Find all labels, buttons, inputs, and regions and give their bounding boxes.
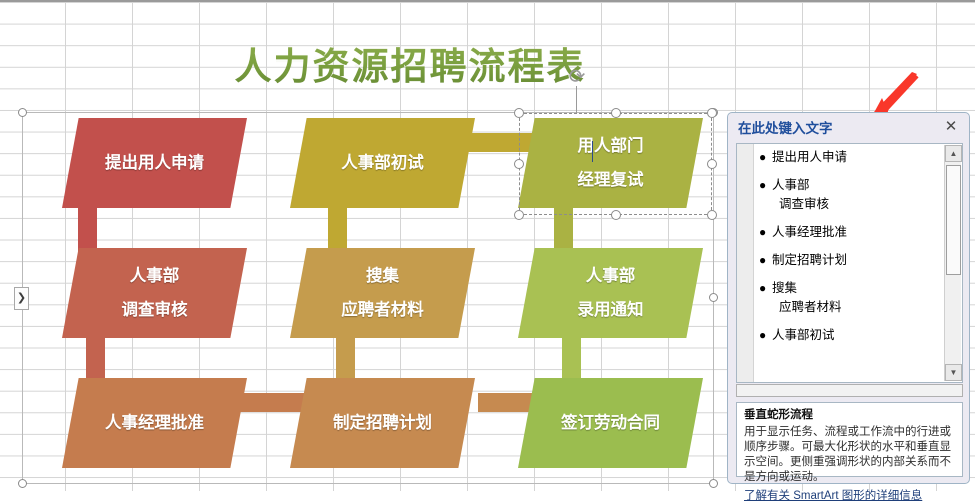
list-item[interactable]: ● 制定招聘计划 [759,253,940,268]
list-item-label: 制定招聘计划 [772,253,847,268]
text-pane-vertical-scrollbar[interactable]: ▲ ▼ [944,145,961,381]
text-pane-header: 在此处键入文字 [728,113,969,141]
node-resize-handle-middle-left[interactable] [514,159,524,169]
node-1-line-1: 提出用人申请 [105,154,204,172]
smartart-node-4[interactable]: 人事部初试 [290,118,475,208]
list-item-label: 人事经理批准 [772,225,847,240]
smartart-node-9[interactable]: 签订劳动合同 [518,378,703,468]
list-item-sub-label[interactable]: 应聘者材料 [779,300,940,315]
smartart-node-5[interactable]: 搜集 应聘者材料 [290,248,475,338]
grid-top-rule [0,0,975,2]
bullet-icon: ● [759,281,772,296]
scroll-up-icon[interactable]: ▲ [945,145,962,162]
smartart-text-pane[interactable]: 在此处键入文字 ✕ ● 提出用人申请 ● 人事部 调查审核 ● 人事经理批准 ●… [727,112,970,484]
scroll-down-icon[interactable]: ▼ [945,364,962,381]
resize-handle-bottom-right[interactable] [709,479,718,488]
text-edit-caret [592,141,593,162]
node-resize-handle-top-right[interactable] [707,108,717,118]
node-4-line-1: 人事部初试 [341,154,424,172]
bullet-icon: ● [759,150,772,165]
node-resize-handle-top-left[interactable] [514,108,524,118]
smartart-node-8[interactable]: 人事部 录用通知 [518,248,703,338]
list-item[interactable]: ● 人事部初试 [759,328,940,343]
bullet-icon: ● [759,178,772,193]
list-item-label: 人事部初试 [772,328,835,343]
list-item[interactable]: ● 人事部 [759,178,940,193]
chevron-right-icon: ❯ [17,293,26,304]
layout-description-title: 垂直蛇形流程 [744,408,955,423]
node-resize-handle-bottom-center[interactable] [611,210,621,220]
list-item-label: 提出用人申请 [772,150,847,165]
node-resize-handle-bottom-left[interactable] [514,210,524,220]
resize-handle-middle-right[interactable] [709,293,718,302]
smartart-node-6[interactable]: 制定招聘计划 [290,378,475,468]
bullet-icon: ● [759,225,772,240]
smartart-node-1[interactable]: 提出用人申请 [62,118,247,208]
bullet-icon: ● [759,253,772,268]
list-item[interactable]: ● 人事经理批准 [759,225,940,240]
resize-handle-top-left[interactable] [18,108,27,117]
text-pane-list-container[interactable]: ● 提出用人申请 ● 人事部 调查审核 ● 人事经理批准 ● 制定招聘计划 ● … [736,143,963,383]
node-3-line-1: 人事经理批准 [105,414,204,432]
node-6-line-1: 制定招聘计划 [333,414,432,432]
smartart-help-link[interactable]: 了解有关 SmartArt 图形的详细信息 [744,489,922,504]
node-8-line-1: 人事部 [586,267,636,285]
node-5-line-2: 应聘者材料 [341,301,424,319]
smartart-node-2[interactable]: 人事部 调查审核 [62,248,247,338]
smartart-layout-description: 垂直蛇形流程 用于显示任务、流程或工作流中的行进或顺序步骤。可最大化形状的水平和… [736,402,963,477]
text-pane-horizontal-scrollbar[interactable] [736,384,963,397]
list-item[interactable]: ● 搜集 [759,281,940,296]
text-pane-toggle-button[interactable]: ❯ [14,287,29,310]
bullet-icon: ● [759,328,772,343]
node-resize-handle-bottom-right[interactable] [707,210,717,220]
node-resize-handle-middle-right[interactable] [707,159,717,169]
list-item[interactable]: ● 提出用人申请 [759,150,940,165]
node-resize-handle-top-center[interactable] [611,108,621,118]
page-title: 人力资源招聘流程表 [200,36,620,100]
resize-handle-bottom-left[interactable] [18,479,27,488]
scrollbar-thumb[interactable] [946,165,961,275]
text-pane-title: 在此处键入文字 [738,117,833,137]
node-5-line-1: 搜集 [366,267,399,285]
node-selection-box[interactable] [519,113,712,215]
list-item-label: 搜集 [772,281,797,296]
list-item-sub-label[interactable]: 调查审核 [779,197,940,212]
list-item-label: 人事部 [772,178,810,193]
close-icon[interactable]: ✕ [942,118,960,136]
node-2-line-2: 调查审核 [122,301,188,319]
text-pane-gutter [737,144,754,382]
node-9-line-1: 签订劳动合同 [561,414,660,432]
node-2-line-1: 人事部 [130,267,180,285]
node-8-line-2: 录用通知 [578,301,644,319]
layout-description-body: 用于显示任务、流程或工作流中的行进或顺序步骤。可最大化形状的水平和垂直显示空间。… [744,425,955,485]
rotate-handle-icon[interactable]: ⟳ [566,66,588,88]
rotate-handle-stem [576,86,577,113]
smartart-node-3[interactable]: 人事经理批准 [62,378,247,468]
text-pane-list[interactable]: ● 提出用人申请 ● 人事部 调查审核 ● 人事经理批准 ● 制定招聘计划 ● … [759,150,940,356]
